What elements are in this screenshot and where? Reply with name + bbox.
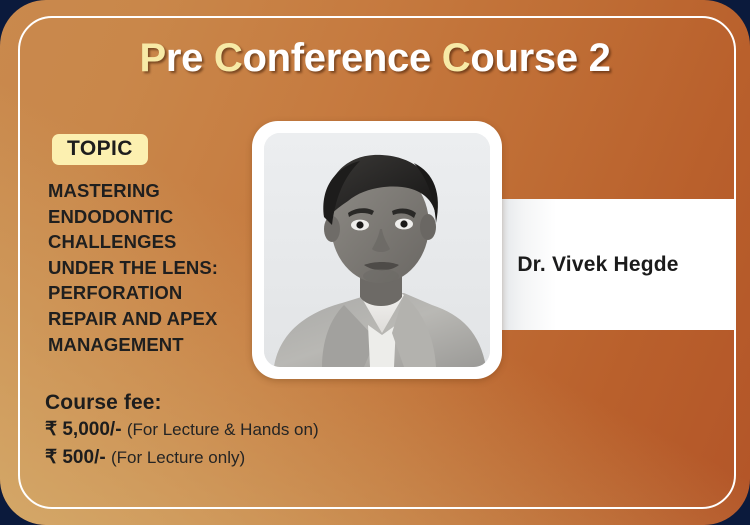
- topic-line: MANAGEMENT: [48, 332, 258, 358]
- speaker-photo-frame: [252, 121, 502, 379]
- topic-line: MASTERING: [48, 178, 258, 204]
- course-fee-block: Course fee: ₹ 5,000/- (For Lecture & Han…: [45, 389, 319, 472]
- title-part-5: ourse 2: [470, 36, 610, 80]
- topic-badge: TOPIC: [52, 134, 148, 165]
- speaker-name: Dr. Vivek Hegde: [500, 199, 696, 330]
- topic-text: MASTERING ENDODONTIC CHALLENGES UNDER TH…: [48, 178, 258, 357]
- title-part-4: C: [442, 36, 471, 80]
- fee-amount: ₹ 5,000/-: [45, 419, 122, 440]
- page-title: Pre Conference Course 2: [0, 36, 750, 81]
- fee-row: ₹ 5,000/- (For Lecture & Hands on): [45, 416, 319, 444]
- topic-line: UNDER THE LENS:: [48, 255, 258, 281]
- course-card: Pre Conference Course 2 TOPIC MASTERING …: [0, 0, 750, 525]
- title-part-3: onference: [242, 36, 441, 80]
- fee-amount: ₹ 500/-: [45, 447, 106, 468]
- course-fee-label: Course fee:: [45, 389, 319, 416]
- topic-line: ENDODONTIC: [48, 204, 258, 230]
- fee-note: (For Lecture & Hands on): [127, 420, 319, 439]
- speaker-name-band: Dr. Vivek Hegde: [500, 199, 734, 330]
- title-part-0: P: [139, 36, 165, 80]
- portrait-illustration: [264, 133, 490, 367]
- speaker-portrait-photo: [264, 133, 490, 367]
- fee-row: ₹ 500/- (For Lecture only): [45, 444, 319, 472]
- fee-note: (For Lecture only): [111, 448, 245, 467]
- topic-line: CHALLENGES: [48, 229, 258, 255]
- topic-line: PERFORATION: [48, 280, 258, 306]
- title-part-2: C: [214, 36, 243, 80]
- title-part-1: re: [166, 36, 214, 80]
- topic-line: REPAIR AND APEX: [48, 306, 258, 332]
- poster-canvas: Pre Conference Course 2 TOPIC MASTERING …: [0, 0, 750, 525]
